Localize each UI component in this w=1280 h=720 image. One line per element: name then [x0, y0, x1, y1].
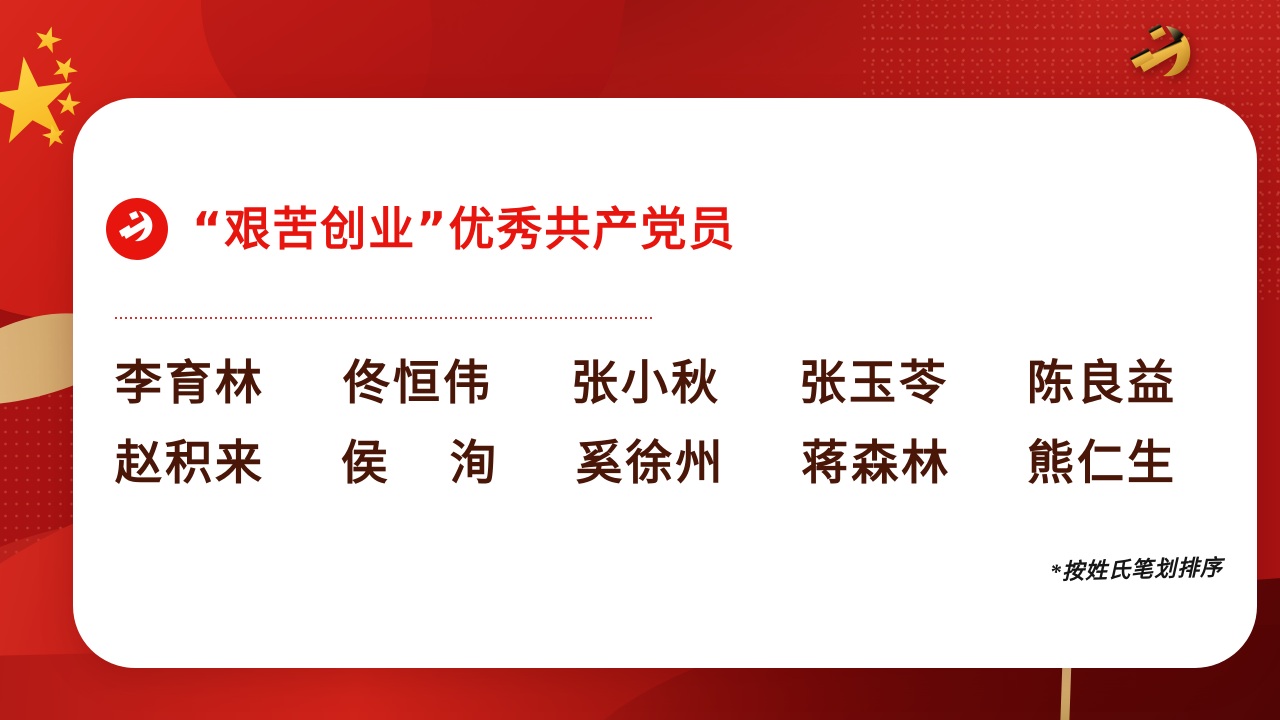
footnote-sort-note: *按姓氏笔划排序: [973, 550, 1224, 589]
honoree-name: 奚徐州: [576, 430, 726, 498]
honoree-row: 李育林 佟恒伟 张小秋 张玉苓 陈良益: [115, 350, 1177, 418]
honoree-name: 赵积来: [115, 430, 265, 498]
honoree-name: 张小秋: [571, 350, 721, 418]
party-emblem-hammer-sickle-icon: [1118, 18, 1210, 94]
honoree-list: 李育林 佟恒伟 张小秋 张玉苓 陈良益 赵积来 侯 洵 奚徐州 蒋森林 熊仁生: [115, 350, 1177, 510]
title-row: “艰苦创业”优秀共产党员: [106, 198, 736, 260]
honoree-name: 李育林: [115, 350, 265, 418]
honoree-name: 蒋森林: [801, 430, 951, 498]
content-card: “艰苦创业”优秀共产党员 李育林 佟恒伟 张小秋 张玉苓 陈良益 赵积来 侯 洵…: [73, 98, 1257, 668]
honoree-name: 侯 洵: [341, 430, 500, 498]
honoree-name: 佟恒伟: [343, 350, 493, 418]
page-title: “艰苦创业”优秀共产党员: [192, 206, 736, 252]
honoree-name: 张玉苓: [799, 350, 949, 418]
honoree-row: 赵积来 侯 洵 奚徐州 蒋森林 熊仁生: [115, 430, 1177, 498]
slide-canvas: “艰苦创业”优秀共产党员 李育林 佟恒伟 张小秋 张玉苓 陈良益 赵积来 侯 洵…: [0, 0, 1280, 720]
party-emblem-badge-icon: [106, 198, 168, 260]
honoree-name: 陈良益: [1027, 350, 1177, 418]
dotted-divider: [115, 317, 653, 319]
honoree-name: 熊仁生: [1027, 430, 1177, 498]
